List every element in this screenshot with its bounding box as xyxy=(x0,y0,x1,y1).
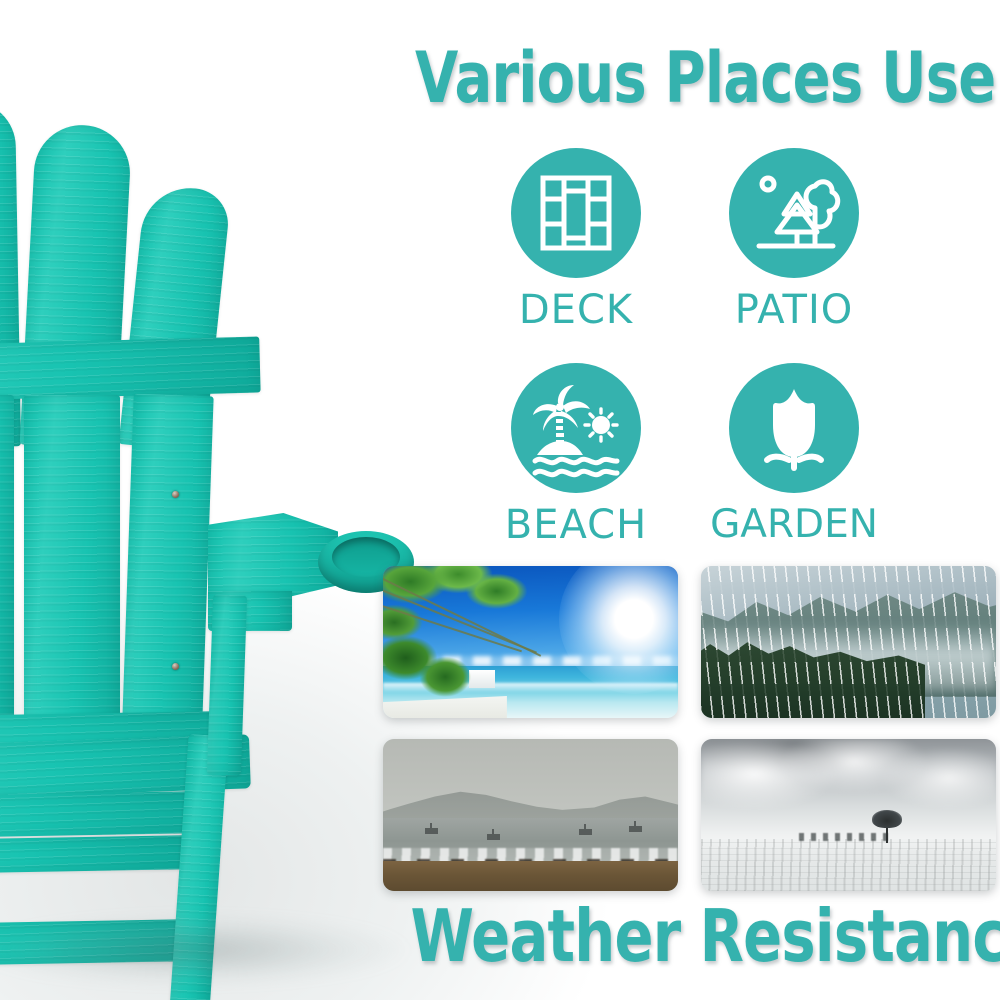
hazy-coastal-bay-photo xyxy=(383,739,678,891)
snow-covered-field-photo xyxy=(701,739,996,891)
chair-screw xyxy=(172,663,179,670)
sunny-tropical-beach-photo xyxy=(383,566,678,718)
infographic-canvas: Various Places Use xyxy=(0,0,1000,1000)
distant-treeline xyxy=(799,833,891,841)
patio-icon-circle xyxy=(729,148,859,278)
use-places-icon-grid: DECK PATIO xyxy=(480,148,900,563)
palm-tree-sun-waves-icon xyxy=(511,363,641,493)
page-title-top: Various Places Use xyxy=(415,40,935,116)
lone-tree xyxy=(886,825,888,843)
palm-canopy-lower xyxy=(383,620,487,706)
chair-screw xyxy=(172,491,179,498)
fishing-boat xyxy=(425,828,438,834)
icon-cell-patio[interactable]: PATIO xyxy=(694,148,894,332)
heavy-rain-forest-photo xyxy=(701,566,996,718)
icon-cell-garden[interactable]: GARDEN xyxy=(694,363,894,547)
page-title-bottom: Weather Resistance xyxy=(411,896,935,976)
icon-cell-beach[interactable]: BEACH xyxy=(476,363,676,547)
icon-cell-deck[interactable]: DECK xyxy=(476,148,676,332)
weather-photo-grid xyxy=(383,566,996,891)
icon-label-patio: PATIO xyxy=(694,288,894,332)
storm-clouds xyxy=(701,739,996,842)
tulip-flower-icon xyxy=(729,363,859,493)
beach-icon-circle xyxy=(511,363,641,493)
fishing-boat xyxy=(629,826,642,832)
fishing-boat xyxy=(487,834,500,840)
rain-streaks xyxy=(701,566,996,718)
deck-icon-circle xyxy=(511,148,641,278)
product-chair-image xyxy=(0,95,430,1000)
icon-label-beach: BEACH xyxy=(476,503,676,547)
fishing-boat xyxy=(579,829,592,835)
icon-label-garden: GARDEN xyxy=(694,503,894,547)
icon-label-deck: DECK xyxy=(476,288,676,332)
trees-sun-icon xyxy=(729,148,859,278)
garden-icon-circle xyxy=(729,363,859,493)
deck-planks-icon xyxy=(511,148,641,278)
